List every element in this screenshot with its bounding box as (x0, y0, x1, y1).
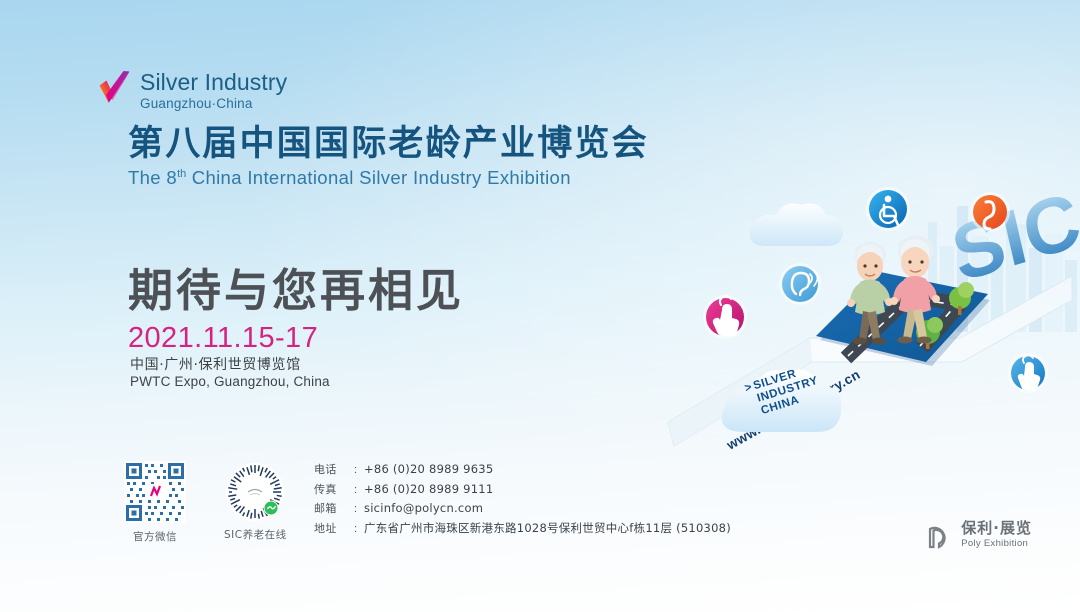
wheelchair-accessible-icon (866, 187, 910, 231)
hearing-aid-ear-icon (779, 263, 821, 305)
brand-wordmark: Silver Industry Guangzhou·China (140, 68, 287, 112)
contact-separator: : (354, 523, 364, 535)
cloud-shape-logo: > SILVER INDUSTRY CHINA (722, 362, 841, 432)
brand-subtitle: Guangzhou·China (140, 96, 287, 112)
brand-logo: Silver Industry Guangzhou·China (98, 68, 287, 112)
contact-separator: : (354, 464, 364, 476)
title-en-rest: China International Silver Industry Exhi… (186, 167, 571, 188)
contact-label-address: 地址 (314, 520, 354, 536)
contact-separator: : (354, 484, 364, 496)
contact-label-phone: 电话 (314, 461, 354, 477)
touch-tap-hand-icon (703, 295, 747, 339)
qr-code-group: 官方微信 (124, 461, 286, 544)
contact-label-fax: 传真 (314, 481, 354, 497)
contact-value-address: 广东省广州市海珠区新港东路1028号保利世贸中心f栋11层 (510308) (364, 520, 731, 536)
exhibition-title-chinese: 第八届中国国际老龄产业博览会 (128, 124, 649, 164)
poly-p-mark-icon (924, 520, 954, 550)
silver-industry-check-mark-icon (98, 68, 132, 108)
contact-separator: : (354, 503, 364, 515)
title-en-ordinal: th (177, 168, 186, 180)
qr-item-wechat[interactable]: 官方微信 (124, 461, 186, 544)
contact-row-address: 地址 : 广东省广州市海珠区新港东路1028号保利世贸中心f栋11层 (5103… (314, 520, 731, 536)
contact-value-email[interactable]: sicinfo@polycn.com (364, 501, 483, 515)
title-en-prefix: The 8 (128, 167, 177, 188)
touch-tap-hand-icon-2 (1008, 353, 1048, 393)
brand-name: Silver Industry (140, 70, 287, 95)
event-dates: 2021.11.15-17 (128, 320, 318, 356)
poly-name-english: Poly Exhibition (961, 538, 1032, 550)
contact-row-fax: 传真 : +86 (0)20 8989 9111 (314, 481, 731, 497)
contact-row-email: 邮箱 : sicinfo@polycn.com (314, 500, 731, 516)
poly-name-chinese: 保利·展览 (961, 520, 1032, 536)
qr-caption-sic-online: SIC养老在线 (224, 527, 286, 542)
wechat-qr-code-icon[interactable] (124, 461, 186, 523)
hero-illustration: SIC www.silverindustry.cn (660, 150, 1080, 480)
venue-english: PWTC Expo, Guangzhou, China (130, 372, 330, 391)
poly-exhibition-logo: 保利·展览 Poly Exhibition (924, 520, 1032, 550)
sic-round-qr-code-icon[interactable] (226, 463, 284, 521)
contact-label-email: 邮箱 (314, 500, 354, 516)
qr-caption-wechat: 官方微信 (124, 529, 186, 544)
contact-value-phone: +86 (0)20 8989 9635 (364, 462, 493, 476)
slogan-text: 期待与您再相见 (128, 264, 464, 318)
cloud-shape-upper (750, 203, 843, 246)
exhibition-poster: Silver Industry Guangzhou·China 第八届中国国际老… (0, 0, 1080, 612)
exhibition-title-english: The 8th China International Silver Indus… (128, 162, 571, 190)
poly-wordmark: 保利·展览 Poly Exhibition (961, 520, 1032, 550)
qr-item-sic-online[interactable]: SIC养老在线 (224, 461, 286, 542)
phone-handset-icon (970, 192, 1010, 232)
contact-value-fax: +86 (0)20 8989 9111 (364, 482, 493, 496)
